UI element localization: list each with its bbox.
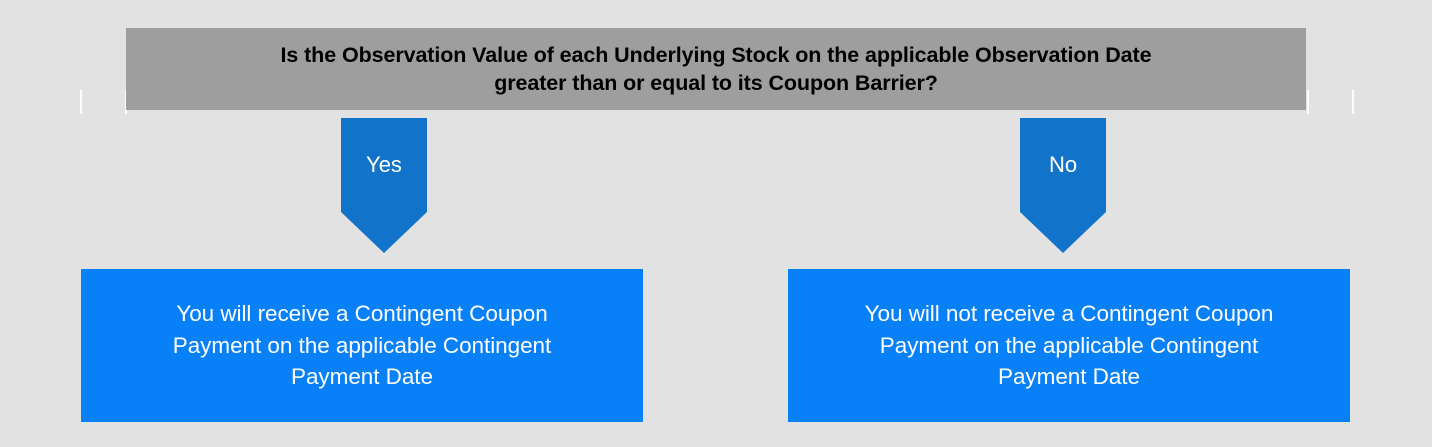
outcome-box-yes: You will receive a Contingent Coupon Pay… [81, 269, 643, 422]
connector-tick-far-left [80, 90, 82, 114]
outcome-text-yes: You will receive a Contingent Coupon Pay… [173, 298, 551, 394]
outcome-box-no: You will not receive a Contingent Coupon… [788, 269, 1350, 422]
branch-arrow-no [1020, 118, 1106, 253]
question-node: Is the Observation Value of each Underly… [126, 28, 1306, 110]
connector-tick-right [1307, 90, 1309, 114]
connector-tick-far-right [1352, 90, 1354, 114]
outcome-no-line-1: You will not receive a Contingent Coupon [865, 298, 1274, 330]
outcome-no-line-2: Payment on the applicable Contingent [865, 330, 1274, 362]
outcome-no-line-3: Payment Date [865, 361, 1274, 393]
question-line-2: greater than or equal to its Coupon Barr… [281, 69, 1152, 97]
outcome-yes-line-3: Payment Date [173, 361, 551, 393]
outcome-yes-line-2: Payment on the applicable Contingent [173, 330, 551, 362]
outcome-yes-line-1: You will receive a Contingent Coupon [173, 298, 551, 330]
branch-arrow-yes [341, 118, 427, 253]
question-text: Is the Observation Value of each Underly… [281, 41, 1152, 98]
decision-flowchart: Is the Observation Value of each Underly… [0, 0, 1432, 447]
outcome-text-no: You will not receive a Contingent Coupon… [865, 298, 1274, 394]
question-line-1: Is the Observation Value of each Underly… [281, 41, 1152, 69]
